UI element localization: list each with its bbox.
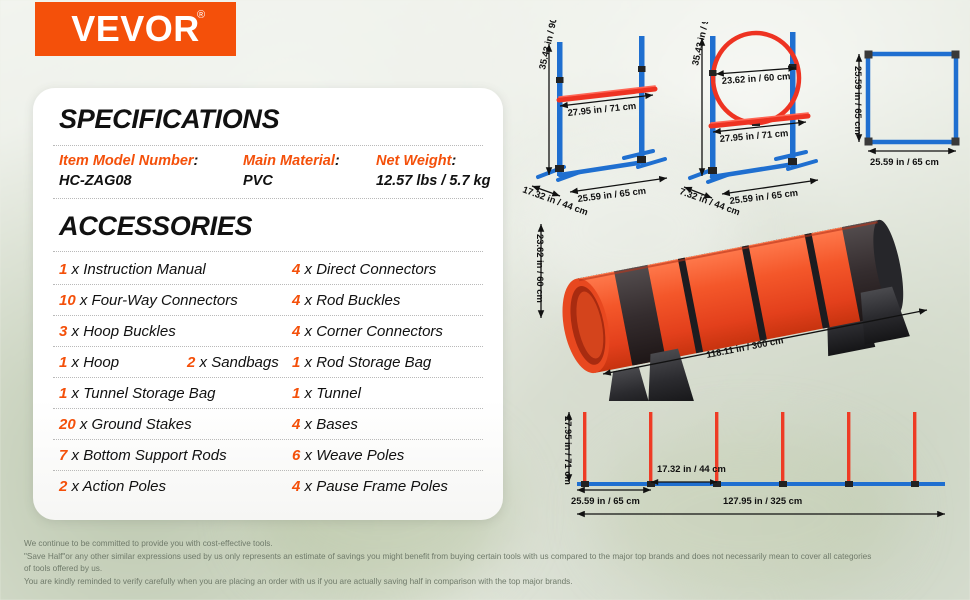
- accessory-entry: 1 x Tunnel Storage Bag: [59, 385, 292, 402]
- spec-row: Item Model Number: HC-ZAG08 Main Materia…: [53, 146, 483, 198]
- accessory-entry: 1 x Hoop: [59, 354, 187, 371]
- disclaimer-line-2: "Save Half"or any other similar expressi…: [24, 551, 954, 564]
- background-blob-3: [520, 150, 740, 310]
- accessory-entry: 4 x Direct Connectors: [292, 261, 436, 278]
- accessory-entry: 7 x Bottom Support Rods: [59, 447, 292, 464]
- accessory-entry: 1 x Rod Storage Bag: [292, 354, 431, 371]
- specifications-title: SPECIFICATIONS: [59, 104, 483, 135]
- list-item: 1 x Instruction Manual 4 x Direct Connec…: [53, 254, 483, 284]
- accessory-entry: 1 x Tunnel: [292, 385, 361, 402]
- spec-value: PVC: [243, 173, 376, 189]
- spec-item-material: Main Material: PVC: [243, 153, 376, 189]
- list-item: 10 x Four-Way Connectors 4 x Rod Buckles: [53, 285, 483, 315]
- disclaimer-line-4: You are kindly reminded to verify carefu…: [24, 576, 954, 589]
- disclaimer-line-3: of tools offered by us.: [24, 563, 954, 576]
- list-item: 1 x Hoop 2 x Sandbags 1 x Rod Storage Ba…: [53, 347, 483, 377]
- list-item: 3 x Hoop Buckles 4 x Corner Connectors: [53, 316, 483, 346]
- accessory-entry: 4 x Rod Buckles: [292, 292, 400, 309]
- vevor-logo: VEVOR ®: [35, 2, 236, 56]
- list-item: 7 x Bottom Support Rods 6 x Weave Poles: [53, 440, 483, 470]
- accessories-list: 1 x Instruction Manual 4 x Direct Connec…: [53, 254, 483, 501]
- spec-label: Main Material:: [243, 153, 376, 169]
- accessory-entry: 4 x Bases: [292, 416, 358, 433]
- list-item: 1 x Tunnel Storage Bag 1 x Tunnel: [53, 378, 483, 408]
- disclaimer: We continue to be committed to provide y…: [24, 538, 954, 589]
- specifications-card: SPECIFICATIONS Item Model Number: HC-ZAG…: [33, 88, 503, 520]
- list-item: 20 x Ground Stakes 4 x Bases: [53, 409, 483, 439]
- spec-label: Item Model Number:: [59, 153, 243, 169]
- accessory-entry: 4 x Corner Connectors: [292, 323, 443, 340]
- accessory-entry: 2 x Sandbags: [187, 354, 292, 371]
- list-item: 2 x Action Poles 4 x Pause Frame Poles: [53, 471, 483, 501]
- spec-item-model: Item Model Number: HC-ZAG08: [59, 153, 243, 189]
- trademark-icon: ®: [197, 10, 206, 21]
- spec-value: HC-ZAG08: [59, 173, 243, 189]
- divider: [53, 251, 483, 252]
- spec-item-weight: Net Weight: 12.57 lbs / 5.7 kg: [376, 153, 490, 189]
- accessory-entry: 1 x Instruction Manual: [59, 261, 292, 278]
- divider: [53, 198, 483, 199]
- spec-value: 12.57 lbs / 5.7 kg: [376, 173, 490, 189]
- accessories-title: ACCESSORIES: [59, 211, 483, 242]
- disclaimer-line-1: We continue to be committed to provide y…: [24, 538, 954, 551]
- accessory-entry: 2 x Action Poles: [59, 478, 292, 495]
- accessory-entry: 4 x Pause Frame Poles: [292, 478, 448, 495]
- accessory-entry: 10 x Four-Way Connectors: [59, 292, 292, 309]
- accessory-entry: 20 x Ground Stakes: [59, 416, 292, 433]
- accessory-entry: 3 x Hoop Buckles: [59, 323, 292, 340]
- accessory-entry: 6 x Weave Poles: [292, 447, 404, 464]
- logo-wordmark: VEVOR: [71, 11, 200, 47]
- spec-label: Net Weight:: [376, 153, 490, 169]
